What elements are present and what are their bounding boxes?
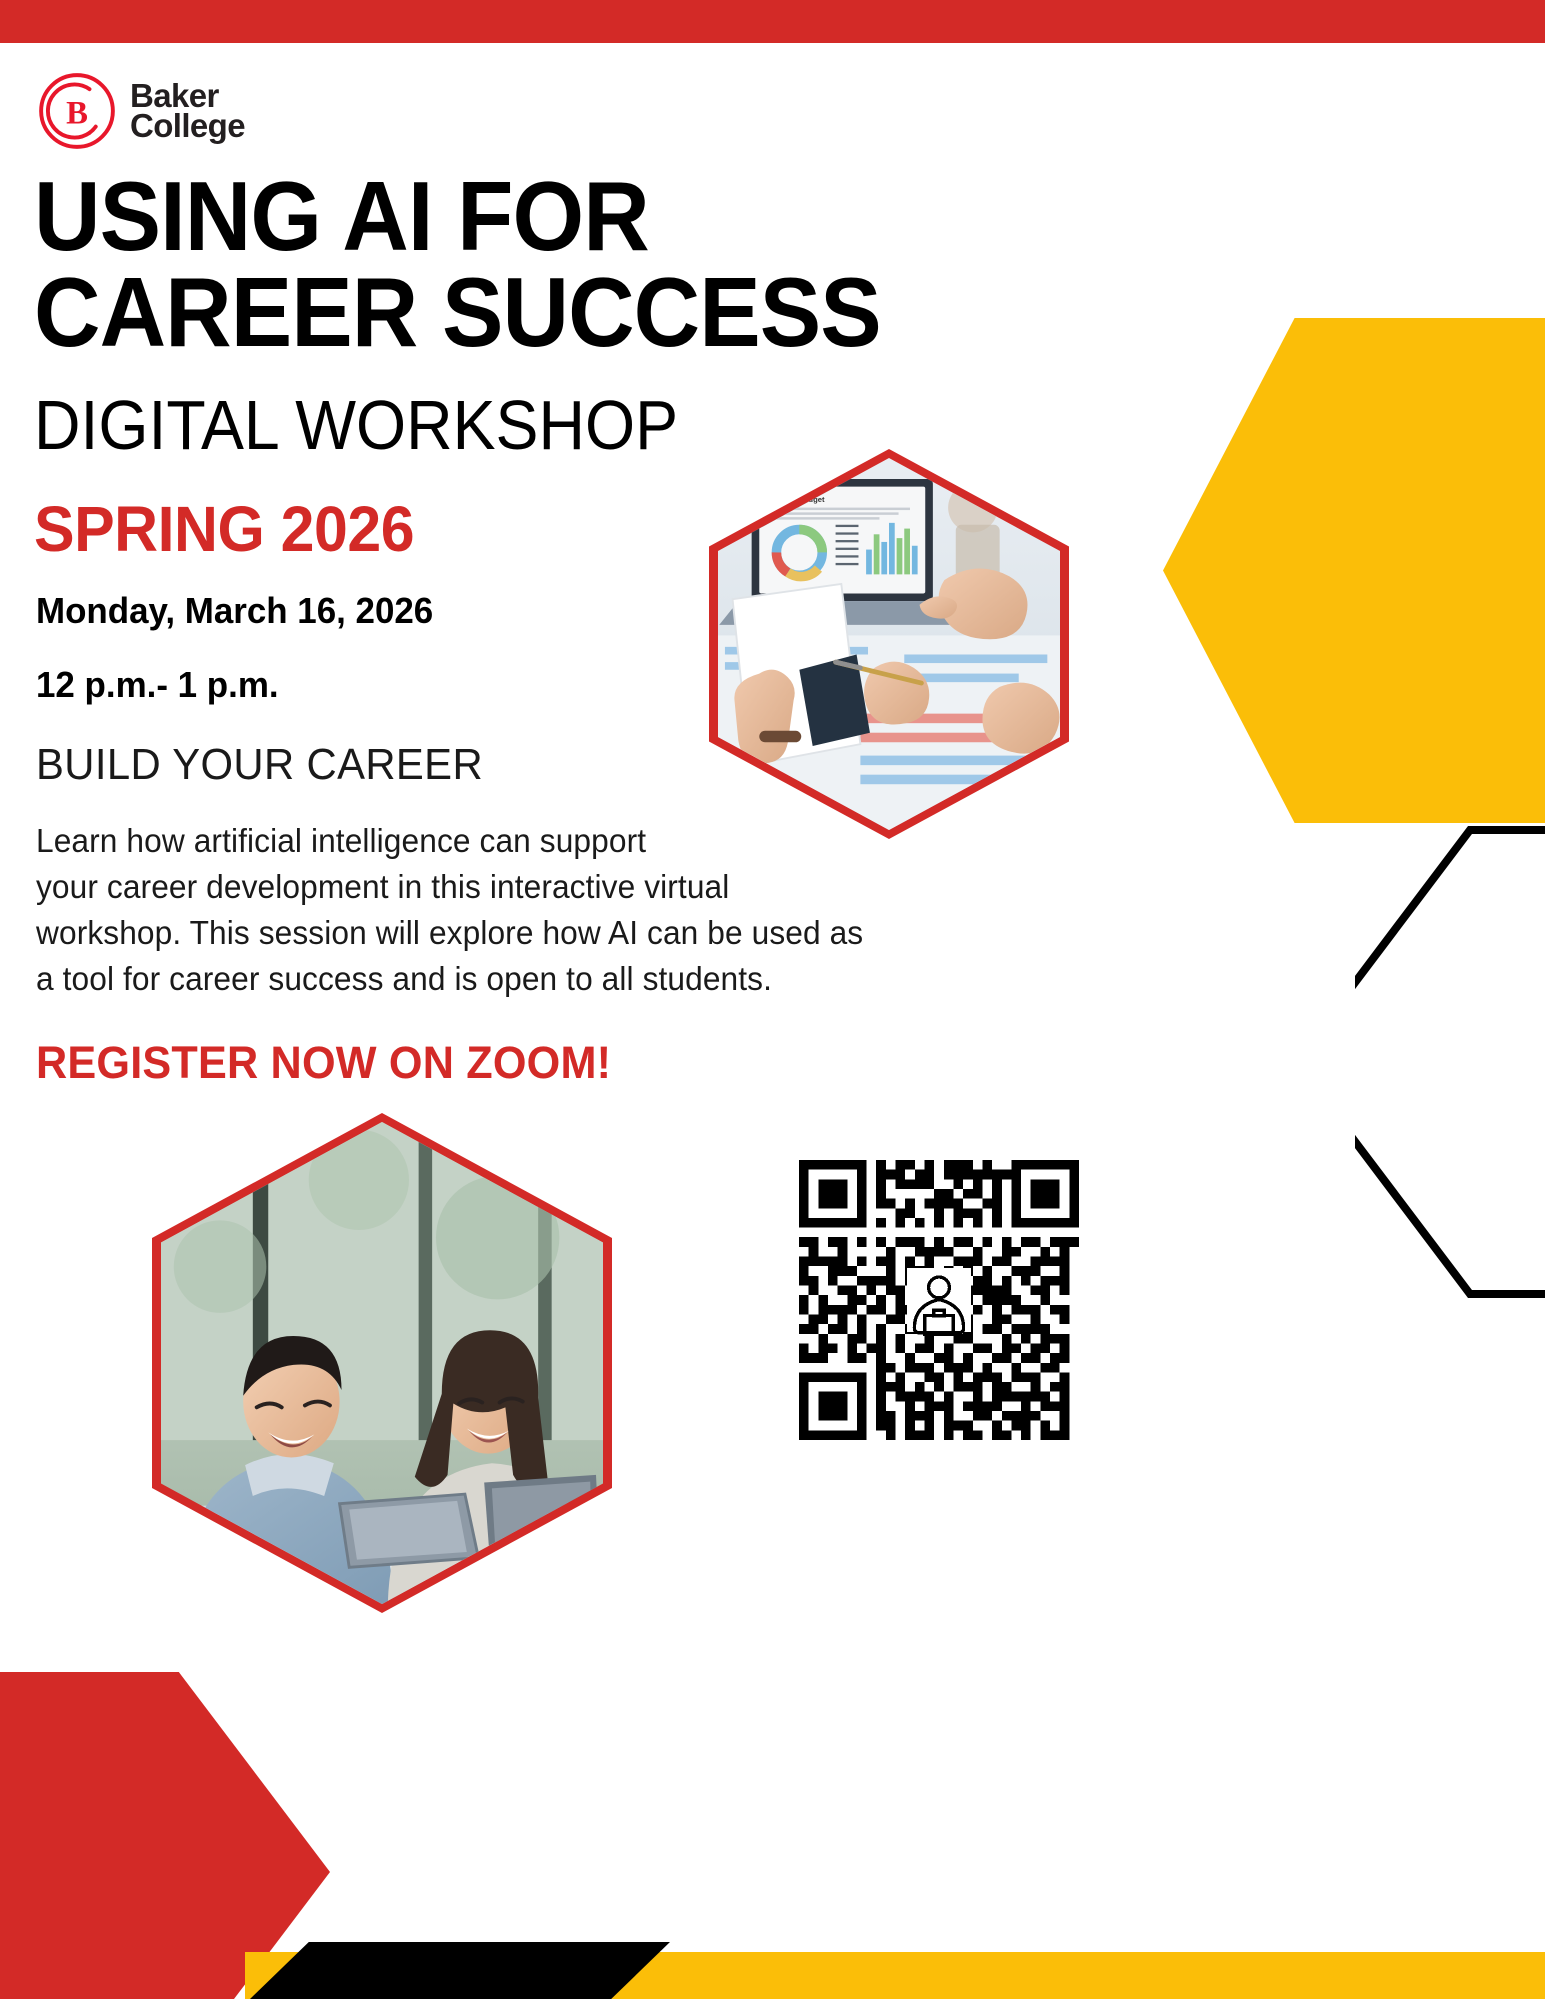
baker-college-mark-icon: B xyxy=(38,72,116,150)
baker-college-logo: B Baker College xyxy=(38,72,245,150)
subheadline: DIGITAL WORKSHOP xyxy=(34,385,678,465)
photo-image xyxy=(161,1122,603,1604)
black-outline-hexagon-decor xyxy=(1355,826,1545,1298)
logo-wordmark: Baker College xyxy=(130,81,245,142)
photo-hexagon-laptop-analytics: Monthly Budget xyxy=(709,449,1069,839)
logo-word-line2: College xyxy=(130,111,245,141)
flyer-page: B Baker College USING AI FOR CAREER SUCC… xyxy=(0,0,1545,1999)
register-cta: REGISTER NOW ON ZOOM! xyxy=(36,1037,611,1089)
yellow-hexagon-decor xyxy=(1163,318,1545,823)
qr-code-register[interactable] xyxy=(799,1160,1079,1440)
description-line: your career development in this interact… xyxy=(36,864,900,910)
headline-line-1: USING AI FOR xyxy=(34,168,1021,264)
headline-line-2: CAREER SUCCESS xyxy=(34,264,1021,360)
top-red-bar xyxy=(0,0,1545,43)
term-label: SPRING 2026 xyxy=(34,492,414,566)
photo-hexagon-students-tablet xyxy=(152,1113,612,1613)
red-hexagon-decor xyxy=(0,1672,330,1999)
headline-block: USING AI FOR CAREER SUCCESS xyxy=(34,168,1084,360)
photo-image: Monthly Budget xyxy=(718,458,1060,830)
description-line: a tool for career success and is open to… xyxy=(36,956,900,1002)
description-line: workshop. This session will explore how … xyxy=(36,910,900,956)
svg-text:B: B xyxy=(66,95,88,131)
event-date: Monday, March 16, 2026 xyxy=(36,590,433,632)
bottom-black-hexagon xyxy=(250,1942,670,1999)
section-heading: BUILD YOUR CAREER xyxy=(36,740,483,790)
description-paragraph: Learn how artificial intelligence can su… xyxy=(36,818,900,1001)
event-time: 12 p.m.- 1 p.m. xyxy=(36,664,279,706)
